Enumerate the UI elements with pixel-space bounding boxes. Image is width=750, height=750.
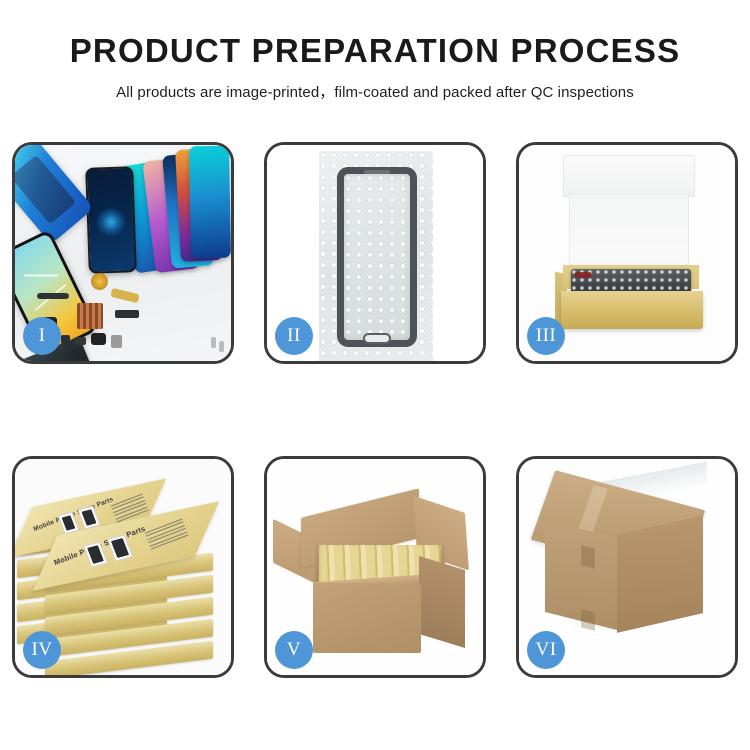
carton-side-face-icon: [419, 556, 465, 648]
phone-screen-cyan-icon: [189, 146, 231, 259]
carton-seam-icon: [581, 545, 595, 568]
bubble-wrap-sheet-icon: [319, 151, 433, 361]
antenna-strip-part-icon: [37, 293, 69, 299]
step-badge-3: III: [527, 317, 565, 355]
flex-cable-black-icon: [115, 310, 139, 318]
tempered-glass-panel-icon: [85, 166, 137, 274]
step-badge-2: II: [275, 317, 313, 355]
step-badge-5: V: [275, 631, 313, 669]
product-preparation-infographic: PRODUCT PREPARATION PROCESS All products…: [0, 0, 750, 750]
step-badge-1: I: [23, 317, 61, 355]
carton-seam-icon: [581, 609, 595, 630]
steps-grid: I II: [12, 142, 738, 678]
box-front-wall-icon: [561, 291, 703, 329]
box-lid-icon: [563, 155, 695, 197]
connector-part-icon: [111, 335, 122, 348]
step-panel-1: I: [12, 142, 234, 364]
page-title: PRODUCT PREPARATION PROCESS: [0, 34, 750, 69]
earpiece-slot-icon: [364, 170, 390, 174]
button-part-icon: [61, 335, 70, 344]
step-panel-6: VI: [516, 456, 738, 678]
page-subtitle: All products are image-printed，film-coat…: [0, 81, 750, 102]
screw-part-icon: [211, 337, 216, 348]
carton-front-face-icon: [313, 583, 421, 653]
wrapped-phone-screen-icon: [337, 167, 417, 347]
step-panel-5: V: [264, 456, 486, 678]
screw-part-icon: [219, 341, 224, 352]
speaker-part-icon: [91, 333, 106, 345]
header: PRODUCT PREPARATION PROCESS All products…: [0, 0, 750, 102]
step-badge-6: VI: [527, 631, 565, 669]
step-panel-4: Mobile Phone Spare Parts Mobile Phone Sp…: [12, 456, 234, 678]
switch-part-icon: [75, 337, 86, 345]
sealed-carton-right-face-icon: [617, 515, 703, 633]
home-button-icon: [363, 333, 391, 344]
step-badge-4: IV: [23, 631, 61, 669]
copper-coil-part-icon: [91, 273, 108, 290]
step-panel-2: II: [264, 142, 486, 364]
step-panel-3: III: [516, 142, 738, 364]
chip-grid-part-icon: [77, 303, 103, 329]
